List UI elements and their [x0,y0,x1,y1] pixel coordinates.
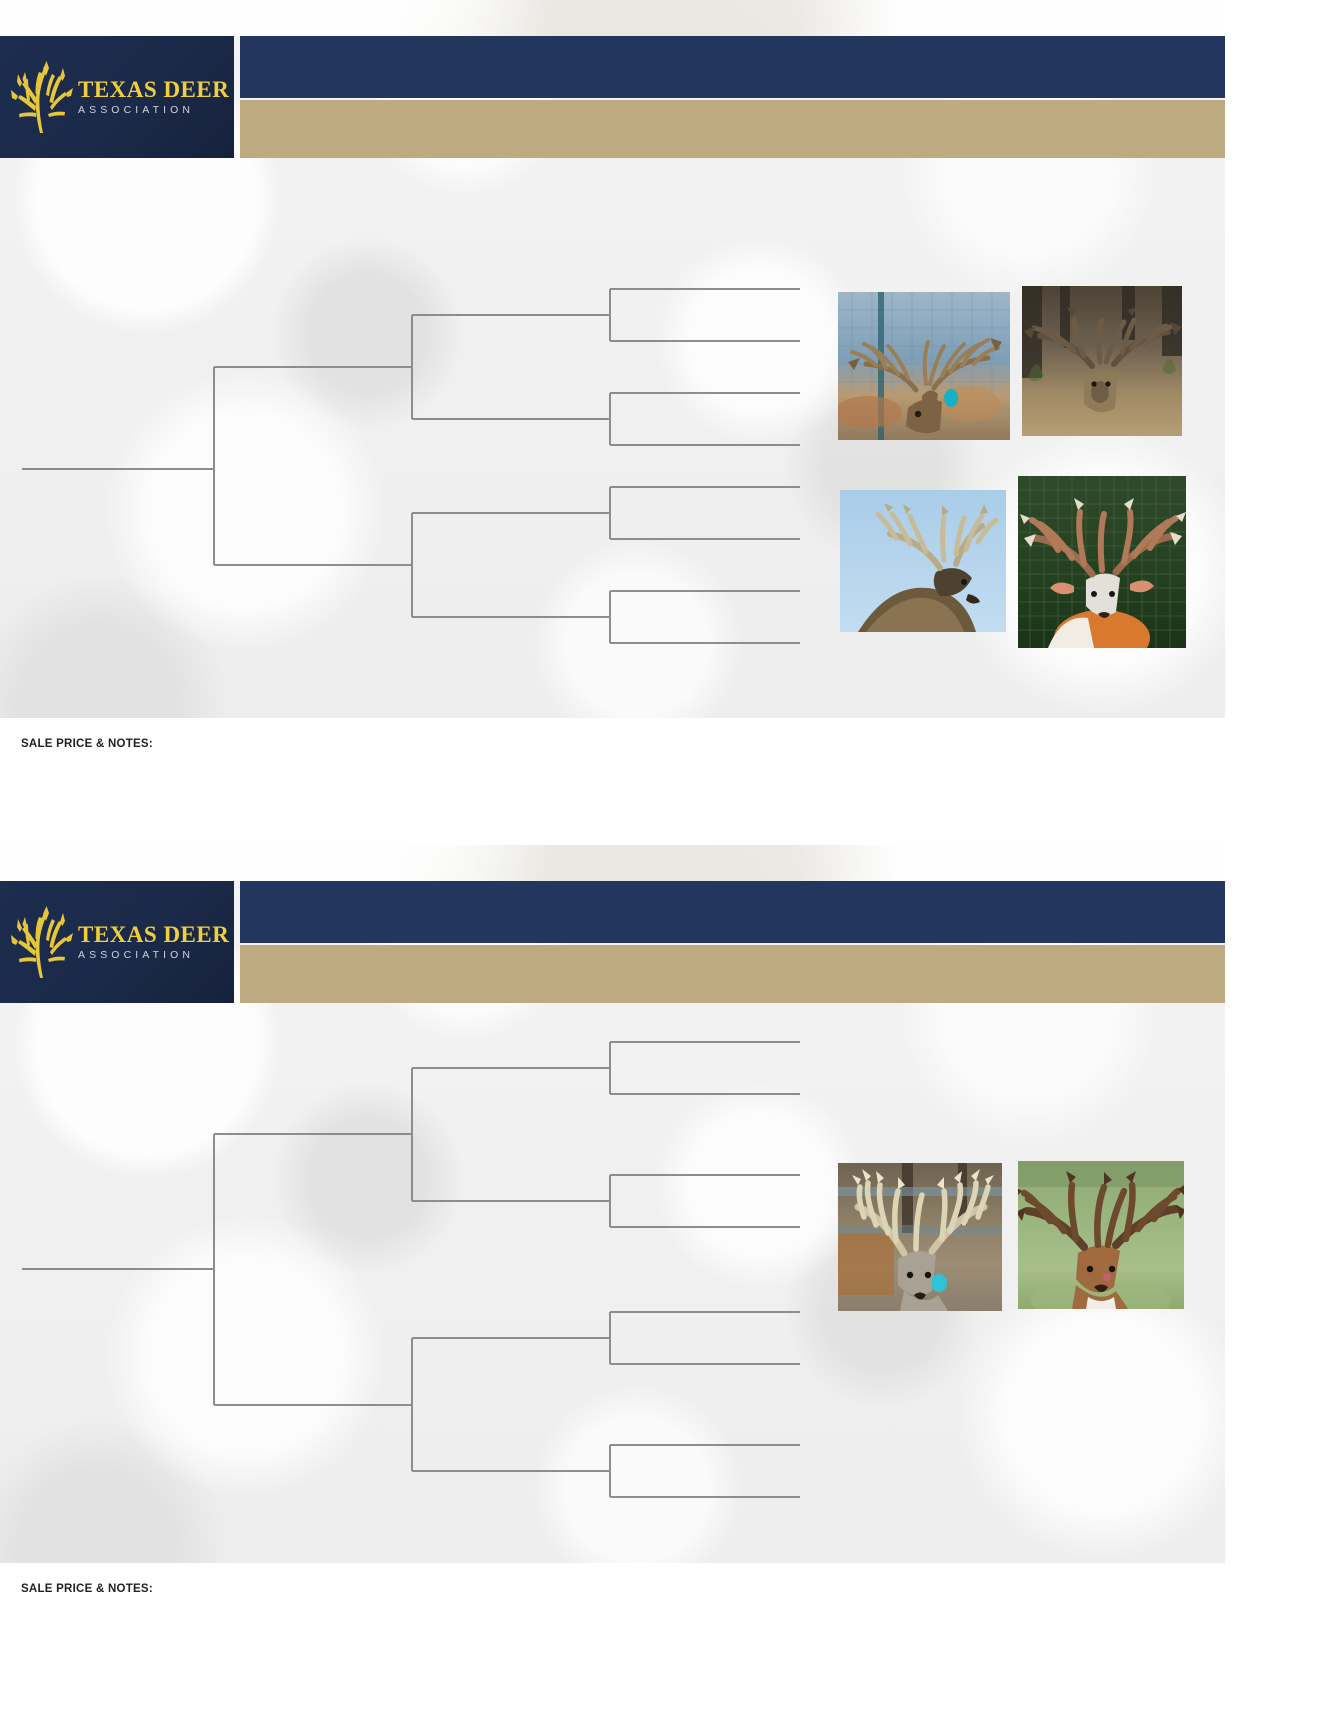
sale-notes-band-2: SALE PRICE & NOTES: [0,1563,1225,1625]
sale-notes-band-1: SALE PRICE & NOTES: [0,718,1225,780]
lot-sheet-2: TEXAS DEER ASSOCIATION [0,845,1225,1625]
buck-photo-top-right[interactable] [1022,286,1182,436]
buck-photo-left[interactable] [838,1163,1002,1311]
sale-price-notes-label: SALE PRICE & NOTES: [21,738,153,750]
sale-price-notes-label: SALE PRICE & NOTES: [21,1583,153,1595]
catalog-page: TEXAS DEER ASSOCIATION [0,0,1338,1731]
buck-photo-bottom-left[interactable] [840,490,1006,632]
buck-photo-bottom-right[interactable] [1018,476,1186,648]
lot-sheet-1: TEXAS DEER ASSOCIATION [0,0,1225,780]
buck-photo-right[interactable] [1018,1161,1184,1309]
buck-photo-top-left[interactable] [838,292,1010,440]
